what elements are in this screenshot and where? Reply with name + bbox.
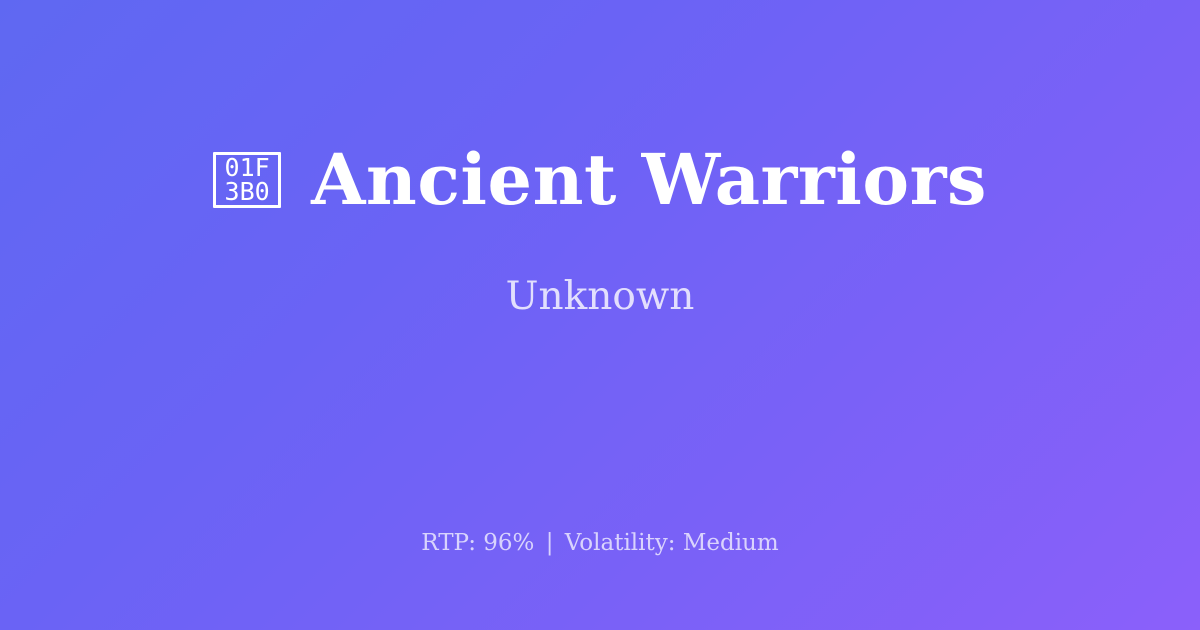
- game-stats: RTP: 96% | Volatility: Medium: [0, 528, 1200, 558]
- title-row: 01F 3B0 Ancient Warriors: [213, 141, 987, 219]
- rtp-label: RTP:: [421, 530, 476, 556]
- game-provider: Unknown: [506, 275, 695, 319]
- volatility-label: Volatility:: [565, 530, 676, 556]
- volatility-value: Medium: [683, 530, 779, 556]
- game-title: Ancient Warriors: [311, 141, 987, 219]
- game-preview-card: 01F 3B0 Ancient Warriors Unknown RTP: 96…: [0, 0, 1200, 630]
- hero-section: 01F 3B0 Ancient Warriors Unknown: [0, 0, 1200, 500]
- rtp-value: 96%: [483, 530, 534, 556]
- slot-machine-icon: 01F 3B0: [213, 152, 281, 208]
- tofu-hex-bottom: 3B0: [225, 180, 270, 204]
- stats-separator: |: [542, 530, 558, 556]
